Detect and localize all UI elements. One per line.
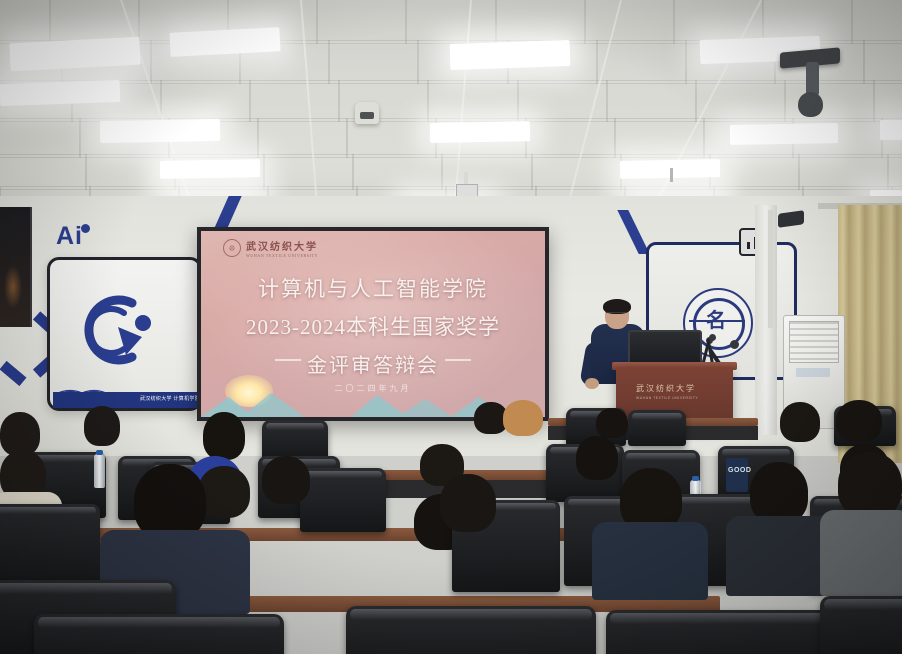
ceiling-light-panel [0,80,120,106]
water-bottle-left [94,454,105,488]
chair-foreground-4 [606,610,836,654]
ceiling-tile [338,80,429,122]
chair-foreground-3 [346,606,596,654]
chair-foreground-2 [34,614,284,654]
ceiling-tile [606,80,697,122]
audience-torso-front-4 [820,510,902,596]
ceiling-tile [257,118,348,158]
presenter-hand [585,378,599,389]
ceiling-tile [0,0,51,44]
presenter-glasses [606,312,627,318]
audience-head-mid-3 [262,456,310,504]
ceiling-tile [614,118,705,158]
ceiling-tile [495,0,586,44]
audience-torso-front-2 [592,522,708,600]
ceiling-tile [328,40,419,84]
wall-dark-frame [0,207,32,327]
ceiling-tile [405,0,496,44]
ceiling-light-panel [730,123,838,145]
ceiling-light-panel [100,119,220,143]
ceiling-tile [346,118,437,158]
ceiling-tile [863,40,902,84]
slide-dash-left [275,359,301,361]
ceiling-tile [0,154,87,190]
wall-conduit [768,210,773,328]
slide-line-2: 2023-2024本科生国家奖学 [201,311,545,341]
slide-line-1: 计算机与人工智能学院 [201,273,545,303]
audience-head-far-6 [596,408,628,438]
slide-logo-cn: 武汉纺织大学 [246,238,318,253]
podium-nameplate: 武汉纺织大学 WUHAN TEXTILE UNIVERSITY [636,383,718,395]
projection-screen: ❊ 武汉纺织大学 WUHAN TEXTILE UNIVERSITY 计算机与人工… [201,231,545,417]
audience-head-mid-5 [576,436,618,480]
seal-glyph: 名 [704,307,728,335]
ceiling-tile [709,154,800,190]
ceiling-tile [584,0,675,44]
lecture-hall-photo: Ai 武汉纺织大学 计算机学院 名 [0,0,902,654]
podium-name-cn: 武汉纺织大学 [636,383,718,394]
ai-panel-dot [81,224,90,233]
ceiling-tile [798,154,889,190]
ceiling-tile [263,154,354,190]
ceiling-tile [160,80,251,122]
audience-head-far-1 [84,406,120,446]
audience-head-far-5 [503,400,543,436]
smoke-detector [355,102,379,124]
audience-head-far-3 [203,412,245,460]
slide-logo-mark: ❊ [223,239,241,257]
paper-cup: GOOD [726,458,748,492]
ceiling-tile [316,0,407,44]
slide-dash-right [445,359,471,361]
chair-far-3 [628,410,686,446]
audience-head-front-1 [134,464,206,540]
ceiling-tile [352,154,443,190]
audience-head-far-7 [780,402,820,442]
audience-seating: GOOD [0,400,902,654]
ceiling-light-panel [160,159,260,179]
ceiling-light-panel [430,121,530,143]
slide-logo-glyph: ❊ [229,244,236,253]
ceiling-tile [0,118,81,158]
ceiling-tile [427,80,518,122]
cup-text: GOOD [728,467,751,474]
ceiling-light-panel [450,40,571,70]
bottle-cap-left [96,450,103,455]
slide-line-3: 金评审答辩会 [201,349,545,378]
chair-mid-4 [300,468,386,532]
bottle-cap-right [692,476,699,481]
audience-head-front-5 [440,474,496,532]
audience-head-front-4 [838,452,902,518]
audience-head-far-8 [836,400,882,442]
ceiling-tile [525,118,616,158]
ceiling-tile [851,0,902,44]
ai-swoosh-logo [80,293,160,367]
ceiling-tile [249,80,340,122]
ceiling-tile [887,154,902,190]
slide-institution-logo: ❊ 武汉纺织大学 WUHAN TEXTILE UNIVERSITY [223,238,318,258]
slide-logo-en: WUHAN TEXTILE UNIVERSITY [246,253,318,258]
chair-foreground-5 [820,596,902,654]
ceiling-hook [670,168,673,182]
ai-panel-label: Ai [56,222,83,251]
ceiling-tile [873,80,902,122]
ceiling-light-panel [880,120,902,140]
audience-head-front-3 [750,462,808,524]
